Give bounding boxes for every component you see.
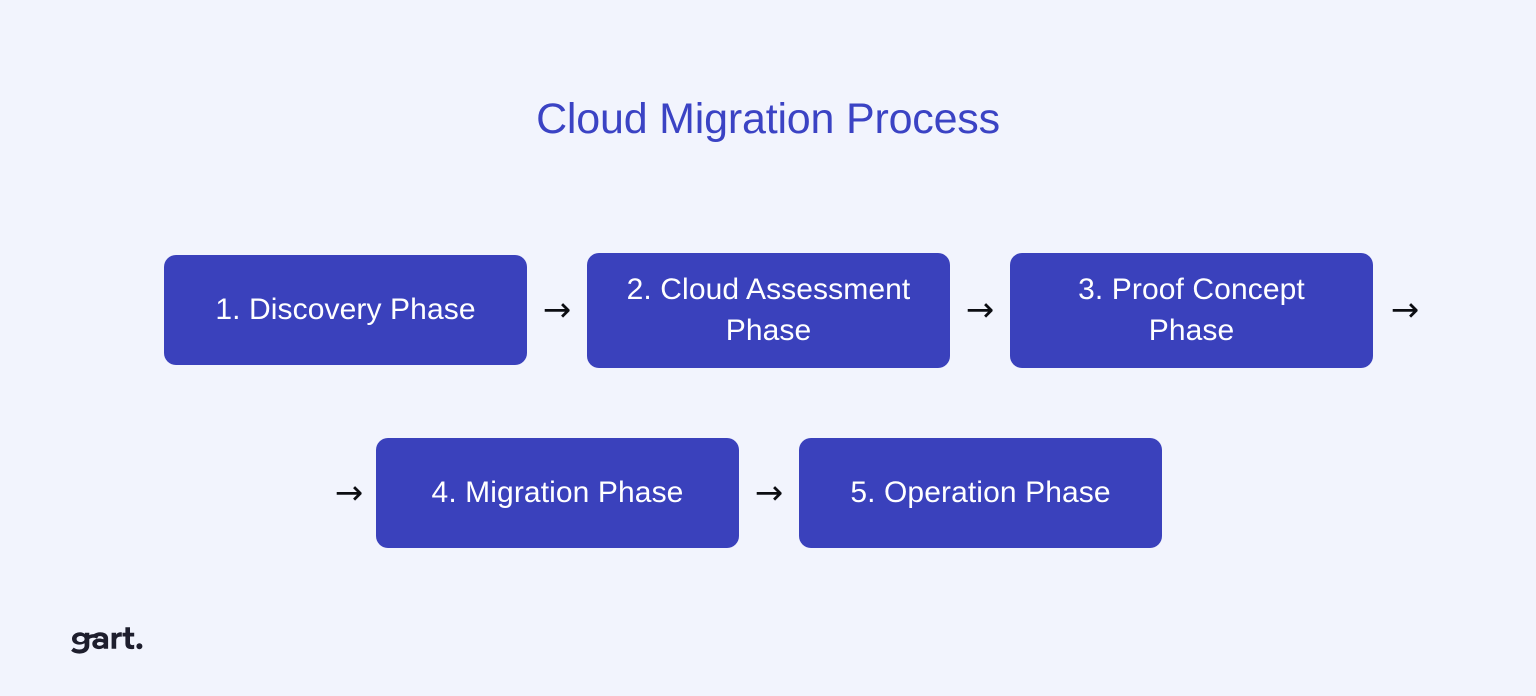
phase-box-1[interactable]: 1. Discovery Phase <box>164 255 527 365</box>
slide-canvas: Cloud Migration Process 1. Discovery Pha… <box>0 0 1536 696</box>
phase-box-5[interactable]: 5. Operation Phase <box>799 438 1162 548</box>
phase-box-4[interactable]: 4. Migration Phase <box>376 438 739 548</box>
arrow-right-icon-1: → <box>527 293 587 327</box>
arrow-right-icon-4: → <box>322 476 376 510</box>
phase-box-3[interactable]: 3. Proof Concept Phase <box>1010 253 1373 368</box>
phase-box-1-label: 1. Discovery Phase <box>215 289 475 330</box>
arrow-right-icon-5: → <box>739 476 799 510</box>
phase-box-2[interactable]: 2. Cloud Assessment Phase <box>587 253 950 368</box>
brand-logo <box>64 620 160 660</box>
flow-row-2: → 4. Migration Phase → 5. Operation Phas… <box>322 433 1162 553</box>
arrow-right-icon-3: → <box>1373 293 1437 327</box>
page-title: Cloud Migration Process <box>0 96 1536 143</box>
arrow-right-icon-2: → <box>950 293 1010 327</box>
phase-box-4-label: 4. Migration Phase <box>432 472 684 513</box>
gart-logo-icon <box>64 620 160 660</box>
flow-row-1: 1. Discovery Phase → 2. Cloud Assessment… <box>164 250 1437 370</box>
phase-box-2-label: 2. Cloud Assessment Phase <box>609 269 929 352</box>
phase-box-3-label: 3. Proof Concept Phase <box>1032 269 1352 352</box>
phase-box-5-label: 5. Operation Phase <box>850 472 1110 513</box>
